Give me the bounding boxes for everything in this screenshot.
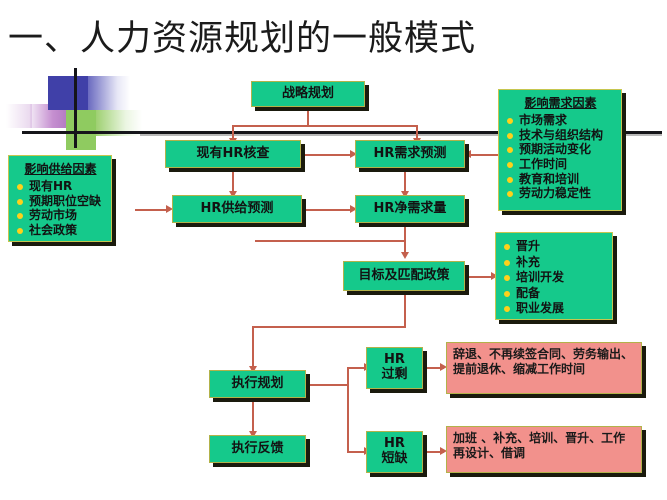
list-item: 预期职位空缺: [15, 194, 106, 209]
node-hr-demand-forecast-label: HR需求预测: [374, 147, 447, 162]
arrow-demandfactors-to-demand: [464, 150, 471, 158]
panel-demand-factors[interactable]: 影响需求因素 市场需求 技术与组织结构 预期活动变化 工作时间 教育和培训 劳动…: [498, 89, 622, 211]
node-strategic-planning[interactable]: 战略规划: [251, 81, 365, 107]
list-item: 工作时间: [505, 157, 616, 172]
node-execute-feedback-label: 执行反馈: [231, 442, 283, 457]
connector-goal-left: [252, 326, 406, 328]
outcome-shortage-actions[interactable]: 加班 、补充、培训、晋升、工作再设计、借调: [446, 426, 642, 473]
node-execute-plan[interactable]: 执行规划: [209, 370, 306, 398]
panel-supply-factors-list: 现有HR 预期职位空缺 劳动市场 社会政策: [15, 179, 106, 238]
node-hr-shortage-label-1: HR: [384, 437, 405, 452]
connector-left-feed-to-goal: [255, 240, 405, 242]
deco-purple-fade: [6, 104, 32, 128]
deco-green-square: [66, 110, 96, 150]
list-item: 劳动市场: [15, 208, 106, 223]
node-execute-plan-label: 执行规划: [231, 377, 283, 392]
connector-net-to-goal: [404, 223, 406, 255]
node-hr-surplus-label-1: HR: [384, 353, 405, 368]
node-hr-net-demand-label: HR净需求量: [374, 202, 447, 217]
deco-blue-fade: [88, 76, 130, 110]
node-hr-supply-forecast-label: HR供给预测: [201, 202, 274, 217]
outcome-surplus-actions[interactable]: 辞退、不再续签合同、劳务输出、 提前退休、缩减工作时间: [446, 342, 642, 394]
list-item: 技术与组织结构: [505, 128, 616, 143]
decorative-squares: [0, 68, 180, 148]
list-item: 教育和培训: [505, 172, 616, 187]
node-goal-match-policy-label: 目标及匹配政策: [358, 269, 449, 284]
connector-strategy-stem: [307, 107, 309, 127]
connector-supply-to-net: [303, 209, 353, 211]
connector-branch-riser: [347, 367, 349, 452]
node-hr-audit[interactable]: 现有HR核查: [165, 140, 301, 168]
slide-canvas: 一、人力资源规划的一般模式: [0, 0, 667, 500]
node-hr-surplus-label-2: 过剩: [381, 368, 407, 383]
connector-audit-to-supply: [232, 168, 234, 193]
connector-goal-to-actions: [464, 276, 494, 278]
node-strategic-planning-label: 战略规划: [282, 87, 334, 102]
list-item: 市场需求: [505, 113, 616, 128]
node-hr-shortage-label-2: 短缺: [381, 452, 407, 467]
panel-match-actions-list: 晋升 补充 培训开发 配备 职业发展: [502, 239, 607, 317]
panel-demand-factors-title: 影响需求因素: [505, 94, 616, 111]
connector-execute-to-feedback: [252, 398, 254, 433]
arrow-net-to-goal: [401, 252, 409, 259]
list-item: 晋升: [502, 239, 607, 255]
connector-strategy-tbar: [232, 125, 418, 127]
connector-supplyfactors-to-supply: [135, 209, 170, 211]
node-goal-match-policy[interactable]: 目标及匹配政策: [343, 261, 465, 291]
panel-match-actions[interactable]: 晋升 补充 培训开发 配备 职业发展: [495, 232, 613, 320]
connector-goal-down: [404, 292, 406, 327]
panel-supply-factors-title: 影响供给因素: [15, 160, 106, 177]
list-item: 职业发展: [502, 301, 607, 317]
list-item: 预期活动变化: [505, 142, 616, 157]
outcome-shortage-actions-text: 加班 、补充、培训、晋升、工作再设计、借调: [453, 431, 625, 460]
list-item: 劳动力稳定性: [505, 186, 616, 201]
list-item: 社会政策: [15, 223, 106, 238]
panel-supply-factors[interactable]: 影响供给因素 现有HR 预期职位空缺 劳动市场 社会政策: [8, 155, 112, 242]
node-hr-demand-forecast[interactable]: HR需求预测: [355, 140, 465, 168]
list-item: 配备: [502, 286, 607, 302]
page-title: 一、人力资源规划的一般模式: [8, 10, 476, 61]
node-hr-audit-label: 现有HR核查: [197, 147, 270, 162]
deco-vertical-rule: [74, 68, 77, 148]
connector-left-feed-riser: [255, 240, 257, 241]
node-hr-supply-forecast[interactable]: HR供给预测: [172, 195, 302, 223]
connector-execute-right: [307, 384, 349, 386]
node-hr-shortage[interactable]: HR 短缺: [366, 431, 423, 473]
deco-blue-square: [48, 76, 88, 110]
list-item: 现有HR: [15, 179, 106, 194]
connector-demand-to-net: [404, 168, 406, 193]
node-hr-surplus[interactable]: HR 过剩: [366, 347, 423, 389]
panel-demand-factors-list: 市场需求 技术与组织结构 预期活动变化 工作时间 教育和培训 劳动力稳定性: [505, 113, 616, 201]
outcome-surplus-actions-text: 辞退、不再续签合同、劳务输出、 提前退休、缩减工作时间: [453, 347, 633, 376]
node-execute-feedback[interactable]: 执行反馈: [209, 435, 306, 463]
list-item: 培训开发: [502, 270, 607, 286]
connector-demandfactors-to-demand: [468, 154, 500, 156]
node-hr-net-demand[interactable]: HR净需求量: [355, 195, 465, 223]
list-item: 补充: [502, 255, 607, 271]
connector-goal-to-execute: [252, 326, 254, 368]
connector-audit-to-demand: [303, 154, 353, 156]
